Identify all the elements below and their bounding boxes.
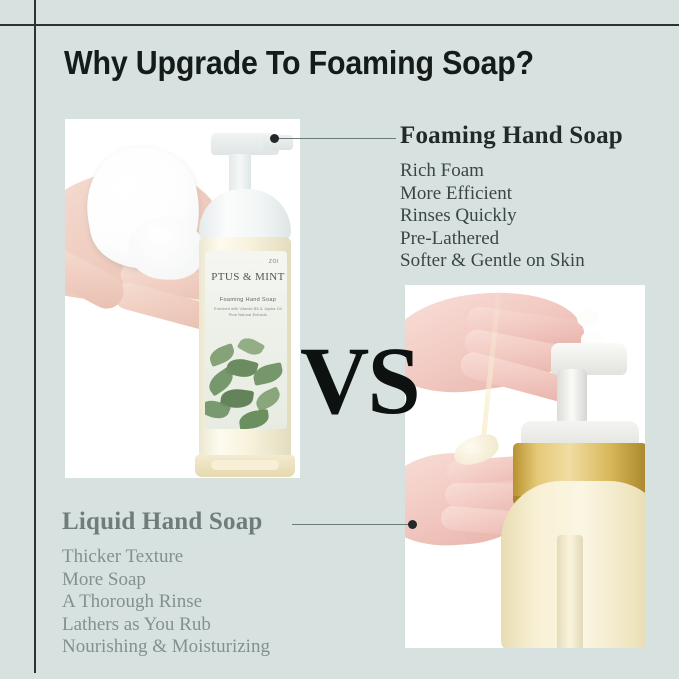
bottle-shoulder	[199, 189, 291, 241]
liquid-benefit-item: Thicker Texture	[62, 546, 270, 569]
versus-label: VS	[300, 333, 419, 429]
foaming-soap-photo: ZOI PTUS & MINT Foaming Hand Soap Enrich…	[65, 119, 300, 478]
foaming-pump-bottle: ZOI PTUS & MINT Foaming Hand Soap Enrich…	[185, 133, 300, 478]
liquid-dip-tube	[557, 535, 583, 648]
liquid-soap-photo	[405, 285, 645, 648]
liquid-connector-dot	[408, 520, 417, 529]
bottle-fine-print: Enriched with Vitamin B5 & Jojoba Oil Pu…	[211, 307, 285, 318]
foaming-benefit-item: Softer & Gentle on Skin	[400, 250, 585, 273]
bottle-brand-text: ZOI	[269, 259, 279, 265]
bottle-base	[195, 455, 295, 477]
infographic-canvas: Why Upgrade To Foaming Soap?	[0, 0, 679, 679]
foaming-connector-dot	[270, 134, 279, 143]
page-title: Why Upgrade To Foaming Soap?	[64, 44, 598, 82]
liquid-benefit-item: More Soap	[62, 569, 270, 592]
foaming-heading: Foaming Hand Soap	[400, 122, 623, 150]
foaming-connector-line	[278, 138, 396, 139]
bottle-subtitle-text: Foaming Hand Soap	[211, 297, 285, 303]
eucalyptus-artwork	[205, 325, 287, 429]
liquid-pump-stem	[557, 369, 587, 429]
horizontal-divider-rule	[0, 24, 679, 26]
bottle-pump-head	[211, 133, 279, 155]
liquid-benefit-item: Nourishing & Moisturizing	[62, 636, 270, 659]
bottle-label: ZOI PTUS & MINT Foaming Hand Soap Enrich…	[205, 251, 287, 429]
bottle-name-text: PTUS & MINT	[211, 271, 285, 283]
fine-print-line-1: Enriched with Vitamin B5 & Jojoba Oil	[214, 307, 282, 311]
liquid-benefit-item: A Thorough Rinse	[62, 591, 270, 614]
liquid-connector-line	[292, 524, 412, 525]
foaming-benefit-item: More Efficient	[400, 183, 585, 206]
foaming-benefit-item: Rinses Quickly	[400, 205, 585, 228]
vertical-divider-rule	[34, 0, 36, 673]
bottle-pump-stem	[229, 154, 251, 192]
liquid-heading: Liquid Hand Soap	[62, 508, 263, 536]
liquid-benefit-item: Lathers as You Rub	[62, 614, 270, 637]
fingernail	[577, 309, 599, 327]
foaming-benefit-item: Rich Foam	[400, 160, 585, 183]
foaming-benefits-list: Rich Foam More Efficient Rinses Quickly …	[400, 160, 585, 273]
foaming-benefit-item: Pre-Lathered	[400, 228, 585, 251]
liquid-benefits-list: Thicker Texture More Soap A Thorough Rin…	[62, 546, 270, 659]
fine-print-line-2: Pure Natural Extracts	[229, 313, 267, 317]
